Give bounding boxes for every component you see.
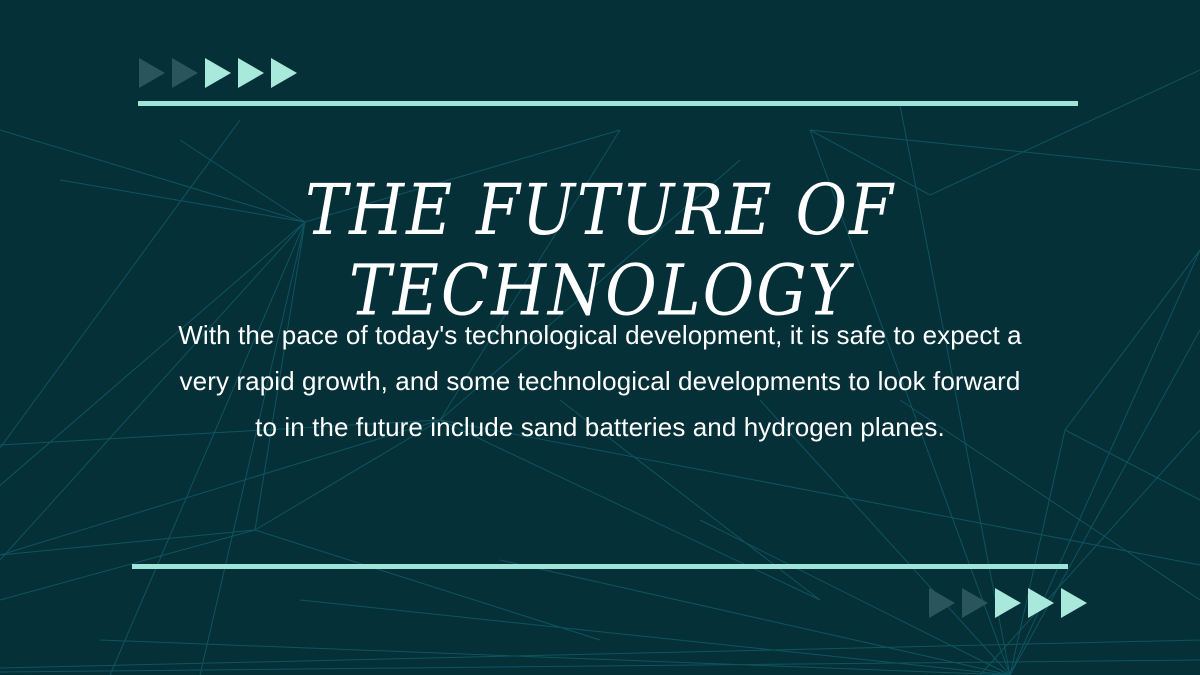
play-triangle-icon xyxy=(995,588,1021,618)
body-paragraph: With the pace of today's technological d… xyxy=(0,312,1200,450)
play-triangle-icon xyxy=(929,588,955,618)
slide-content: THE FUTURE OF TECHNOLOGY With the pace o… xyxy=(0,170,1200,452)
bottom-triangle-decoration xyxy=(929,588,1087,618)
play-triangle-icon xyxy=(271,58,297,88)
play-triangle-icon xyxy=(1061,588,1087,618)
page-title: THE FUTURE OF TECHNOLOGY xyxy=(0,170,1200,331)
play-triangle-icon xyxy=(1028,588,1054,618)
bottom-divider-rule xyxy=(132,564,1068,569)
play-triangle-icon xyxy=(172,58,198,88)
top-divider-rule xyxy=(138,101,1078,106)
play-triangle-icon xyxy=(205,58,231,88)
play-triangle-icon xyxy=(238,58,264,88)
play-triangle-icon xyxy=(962,588,988,618)
top-triangle-decoration xyxy=(139,58,297,88)
slide-canvas: THE FUTURE OF TECHNOLOGY With the pace o… xyxy=(0,0,1200,675)
play-triangle-icon xyxy=(139,58,165,88)
